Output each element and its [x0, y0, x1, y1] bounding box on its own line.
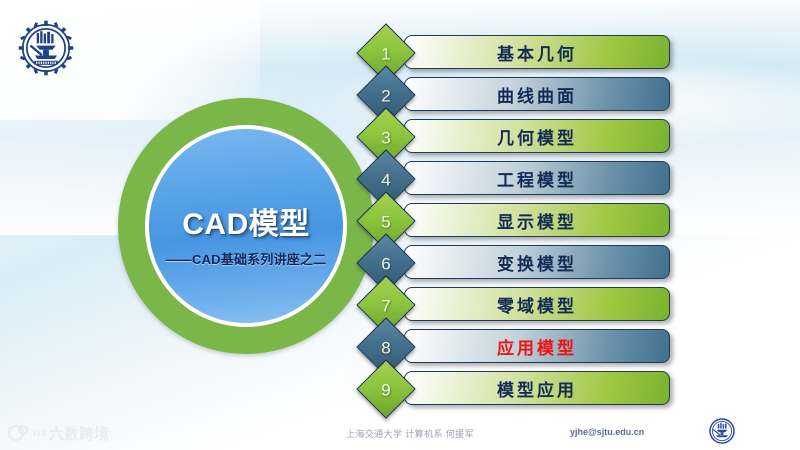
agenda-bar-3[interactable]: 几何模型: [404, 119, 670, 153]
footer-email: yjhe@sjtu.edu.cn: [570, 427, 700, 437]
agenda-badge-9[interactable]: 9: [356, 359, 415, 418]
agenda-item-4[interactable]: 工程模型 4: [0, 158, 800, 200]
agenda-label-8: 应用模型: [497, 334, 577, 359]
agenda-label-7: 零域模型: [497, 292, 577, 317]
agenda-bar-1[interactable]: 基本几何: [404, 35, 670, 69]
agenda-item-8[interactable]: 应用模型 8: [0, 326, 800, 368]
agenda-bar-5[interactable]: 显示模型: [404, 203, 670, 237]
agenda-bar-7[interactable]: 零域模型: [404, 287, 670, 321]
agenda-item-9[interactable]: 模型应用 9: [0, 368, 800, 410]
agenda-label-5: 显示模型: [497, 208, 577, 233]
agenda-label-9: 模型应用: [497, 376, 577, 401]
watermark-logo-icon: [8, 423, 30, 443]
agenda-item-1[interactable]: 基本几何 1: [0, 32, 800, 74]
sjtu-emblem-small-icon: [707, 416, 737, 446]
agenda-bar-6[interactable]: 变换模型: [404, 245, 670, 279]
agenda-item-6[interactable]: 变换模型 6: [0, 242, 800, 284]
watermark: f13 六数跨境: [8, 420, 109, 446]
agenda-item-2[interactable]: 曲线曲面 2: [0, 74, 800, 116]
agenda-label-1: 基本几何: [497, 40, 577, 65]
agenda-number-9: 9: [365, 369, 407, 411]
watermark-text: 六数跨境: [49, 423, 109, 444]
agenda-bar-8[interactable]: 应用模型: [404, 329, 670, 363]
agenda-list: 基本几何 1 曲线曲面 2 几何模型 3 工程模型 4 显示模型: [0, 0, 800, 450]
agenda-label-4: 工程模型: [497, 166, 577, 191]
agenda-label-3: 几何模型: [497, 124, 577, 149]
agenda-label-2: 曲线曲面: [497, 82, 577, 107]
agenda-item-3[interactable]: 几何模型 3: [0, 116, 800, 158]
agenda-label-6: 变换模型: [497, 250, 577, 275]
agenda-bar-2[interactable]: 曲线曲面: [404, 77, 670, 111]
agenda-item-7[interactable]: 零域模型 7: [0, 284, 800, 326]
footer-credit: 上海交通大学 计算机系 何援军: [300, 427, 520, 440]
agenda-bar-9[interactable]: 模型应用: [404, 371, 670, 405]
watermark-mark: f13: [33, 428, 46, 438]
agenda-item-5[interactable]: 显示模型 5: [0, 200, 800, 242]
agenda-bar-4[interactable]: 工程模型: [404, 161, 670, 195]
